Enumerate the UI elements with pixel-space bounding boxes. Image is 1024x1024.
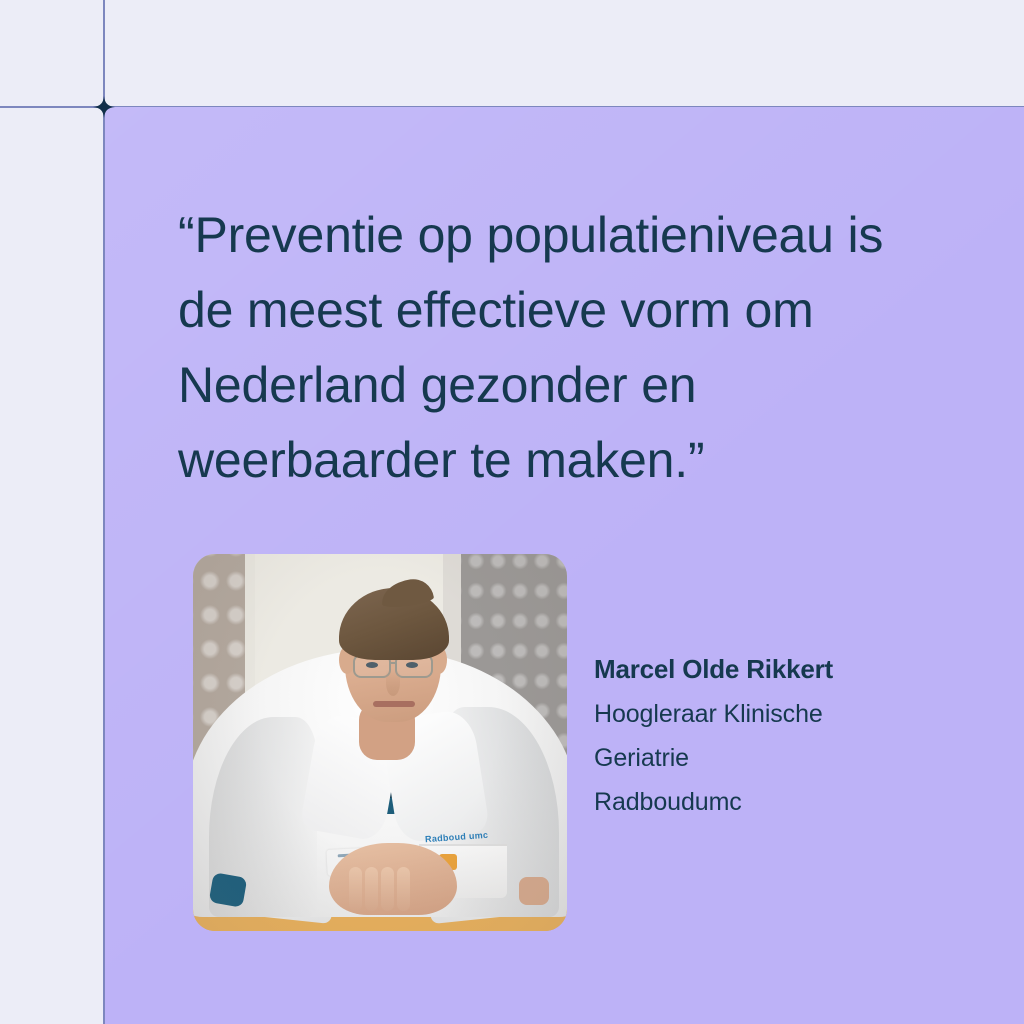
subject-finger bbox=[381, 867, 394, 911]
photo-subject: Radboud umc bbox=[193, 554, 567, 931]
pull-quote-text: “Preventie op populatieniveau is de mees… bbox=[178, 198, 968, 498]
diamond-star-icon bbox=[93, 96, 115, 118]
quote-attribution: Marcel Olde Rikkert Hoogleraar Klinische… bbox=[594, 652, 944, 824]
subject-mouth bbox=[373, 701, 415, 707]
subject-nose bbox=[386, 670, 400, 696]
subject-finger bbox=[349, 867, 362, 911]
subject-wrist-right bbox=[519, 877, 549, 905]
subject-finger bbox=[397, 867, 410, 911]
portrait-photo: Radboud umc bbox=[193, 554, 567, 931]
glasses-bridge bbox=[390, 662, 397, 664]
attribution-name: Marcel Olde Rikkert bbox=[594, 652, 944, 686]
subject-finger bbox=[365, 867, 378, 911]
attribution-role: Hoogleraar Klinische Geriatrie Radboudum… bbox=[594, 692, 944, 824]
shirt-cuff-left bbox=[209, 872, 248, 907]
